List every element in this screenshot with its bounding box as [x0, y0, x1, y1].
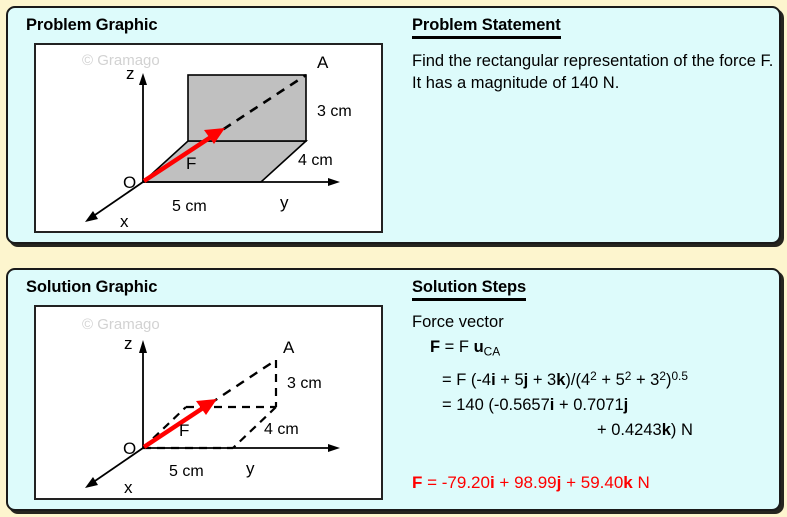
problem-statement-title: Problem Statement: [412, 16, 561, 39]
point-a-label: A: [283, 338, 295, 357]
problem-panel: Problem Graphic © Gramago O: [6, 6, 781, 244]
force-vector-arrow: [144, 406, 206, 447]
solution-final-answer: F = -79.20i + 98.99j + 59.40k N: [412, 470, 774, 495]
z-axis-label: z: [124, 334, 133, 353]
x-axis-arrowhead: [85, 477, 98, 488]
base-parallelogram: [143, 141, 306, 182]
z-axis-arrowhead: [139, 73, 147, 85]
dim-width-label: 5 cm: [169, 463, 204, 480]
point-a-label: A: [317, 53, 329, 72]
problem-graphic-title: Problem Graphic: [26, 16, 157, 35]
solution-intro: Force vector: [412, 310, 774, 335]
z-axis-arrowhead: [139, 340, 147, 353]
problem-statement-text: Find the rectangular representation of t…: [412, 50, 774, 94]
dim-width-label: 5 cm: [172, 198, 207, 215]
origin-label: O: [123, 173, 136, 192]
solution-equation-line: = 140 (-0.5657i + 0.7071j: [442, 393, 774, 418]
dim-depth-label: 4 cm: [264, 421, 299, 438]
solution-steps-title: Solution Steps: [412, 278, 526, 301]
force-label: F: [186, 154, 196, 173]
solution-equation-line: = F (-4i + 5j + 3k)/(42 + 52 + 32)0.5: [442, 364, 774, 393]
solution-graphic-box: © Gramago O: [34, 305, 383, 500]
problem-diagram: © Gramago O z y x A F: [36, 45, 381, 231]
solution-equation-list: F = F uCA= F (-4i + 5j + 3k)/(42 + 52 + …: [412, 335, 774, 443]
dim-height-label: 3 cm: [287, 375, 322, 392]
solution-equation-line: F = F uCA: [430, 335, 774, 364]
dim-depth-label: 4 cm: [298, 152, 333, 169]
dim-height-label: 3 cm: [317, 103, 352, 120]
solution-graphic-title: Solution Graphic: [26, 278, 157, 297]
solution-steps-body: Force vector F = F uCA= F (-4i + 5j + 3k…: [412, 310, 774, 495]
watermark-label: © Gramago: [82, 316, 160, 333]
y-axis-arrowhead: [328, 444, 340, 452]
solution-equation-line: + 0.4243k) N: [597, 418, 774, 443]
x-axis-label: x: [120, 212, 129, 231]
problem-statement-body: Find the rectangular representation of t…: [412, 50, 774, 94]
y-axis-label: y: [280, 193, 289, 212]
x-axis-label: x: [124, 478, 133, 497]
y-axis-label: y: [246, 459, 255, 478]
solution-diagram: © Gramago O: [36, 307, 381, 498]
y-axis-arrowhead: [328, 178, 340, 186]
solution-panel: Solution Graphic © Gramago: [6, 268, 781, 511]
watermark-label: © Gramago: [82, 52, 160, 69]
z-axis-label: z: [126, 64, 135, 83]
problem-graphic-box: © Gramago O z y x A F: [34, 43, 383, 233]
x-axis-arrowhead: [85, 211, 98, 222]
origin-label: O: [123, 439, 136, 458]
force-label: F: [179, 421, 189, 440]
